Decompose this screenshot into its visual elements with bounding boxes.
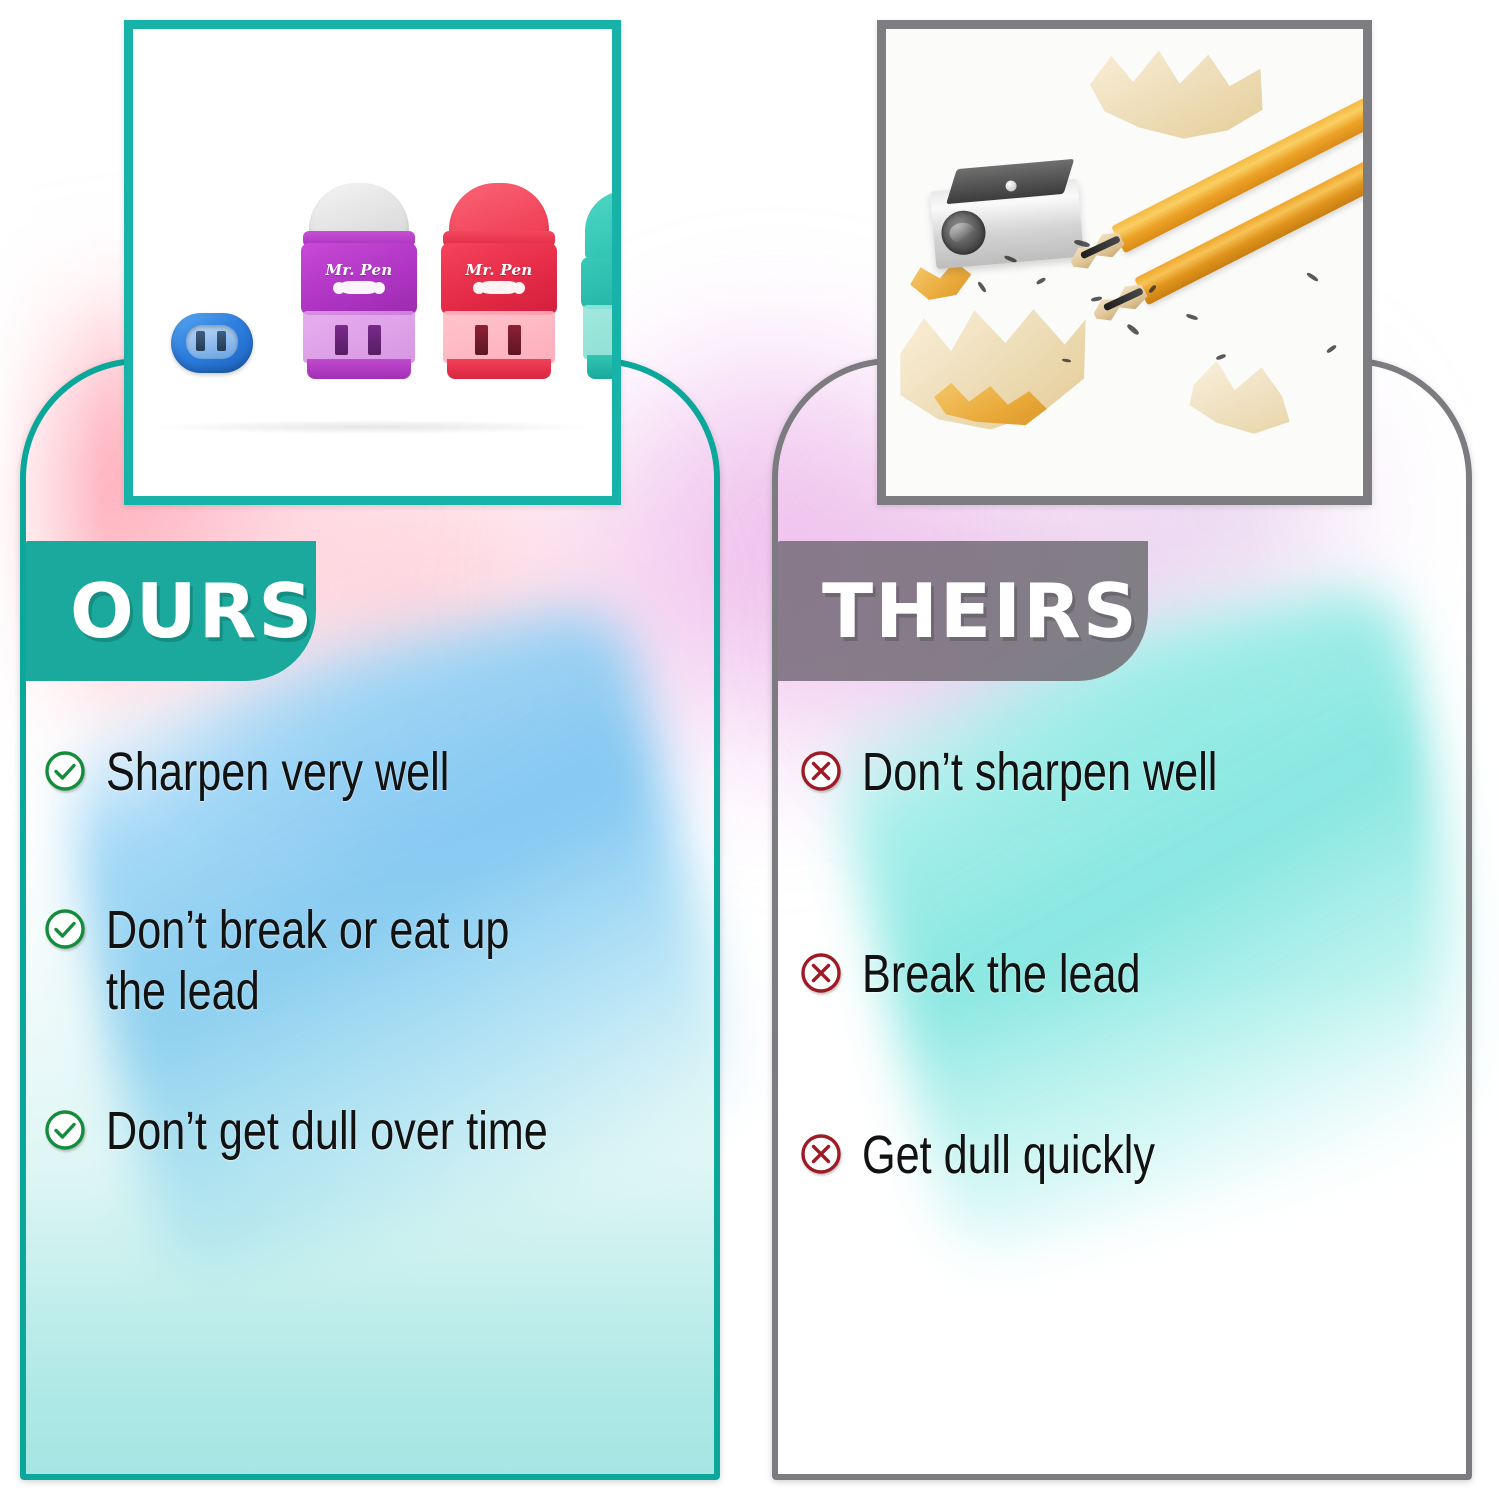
product-photo-ours-image: Mr. Pen Mr. Pen bbox=[133, 29, 612, 496]
x-circle-icon bbox=[800, 952, 842, 994]
graphite-fleck bbox=[1326, 344, 1337, 354]
banner-theirs-label: THEIRS bbox=[822, 574, 1139, 649]
x-circle-icon bbox=[800, 750, 842, 792]
check-circle-icon bbox=[44, 1109, 86, 1151]
graphite-fleck bbox=[1126, 323, 1140, 336]
banner-theirs: THEIRS bbox=[778, 541, 1148, 681]
graphite-fleck bbox=[1091, 296, 1103, 302]
wood-shaving-3 bbox=[1179, 349, 1300, 444]
pink-body bbox=[441, 243, 557, 315]
product-photo-ours: Mr. Pen Mr. Pen bbox=[124, 20, 621, 505]
product-photo-theirs bbox=[877, 20, 1372, 505]
blue-sharpener-blade-2 bbox=[217, 331, 226, 351]
list-item: Don’t break or eat up the lead bbox=[44, 900, 704, 1023]
list-item: Don’t sharpen well bbox=[800, 742, 1450, 804]
product-photo-theirs-image bbox=[886, 29, 1363, 496]
product-teal-combo-sharpener bbox=[581, 191, 612, 379]
list-item: Get dull quickly bbox=[800, 1125, 1450, 1187]
brand-logo-pink: Mr. Pen bbox=[441, 261, 557, 279]
graphite-fleck bbox=[1216, 353, 1227, 360]
list-item: Don’t get dull over time bbox=[44, 1101, 704, 1163]
graphite-fleck bbox=[1306, 272, 1319, 283]
feature-list-theirs: Don’t sharpen well Break the lead Get du… bbox=[800, 742, 1450, 1283]
check-circle-icon bbox=[44, 908, 86, 950]
purple-shavings-bin bbox=[303, 311, 415, 363]
list-item-label: Don’t break or eat up the lead bbox=[106, 900, 584, 1023]
wood-shaving-1 bbox=[1081, 35, 1269, 152]
list-item-label: Get dull quickly bbox=[862, 1125, 1332, 1187]
feature-list-ours: Sharpen very well Don’t break or eat up … bbox=[44, 742, 704, 1258]
banner-ours: OURS bbox=[26, 541, 316, 681]
mustache-icon bbox=[479, 281, 519, 294]
list-item: Sharpen very well bbox=[44, 742, 704, 804]
graphite-fleck bbox=[1186, 313, 1199, 321]
brand-logo-purple: Mr. Pen bbox=[301, 261, 417, 279]
list-item-label: Don’t sharpen well bbox=[862, 742, 1332, 804]
product-pink-combo-sharpener: Mr. Pen bbox=[441, 183, 557, 379]
list-item: Break the lead bbox=[800, 944, 1450, 1006]
blue-sharpener-blade-1 bbox=[196, 331, 205, 351]
list-item-label: Don’t get dull over time bbox=[106, 1101, 584, 1163]
blue-sharpener-well bbox=[186, 325, 238, 359]
product-purple-combo-sharpener: Mr. Pen bbox=[301, 183, 417, 379]
graphite-fleck bbox=[977, 281, 987, 293]
list-item-label: Break the lead bbox=[862, 944, 1332, 1006]
mustache-icon bbox=[339, 281, 379, 294]
teal-shavings-bin bbox=[583, 305, 612, 359]
pink-base-foot bbox=[447, 359, 551, 379]
purple-body bbox=[301, 243, 417, 315]
check-circle-icon bbox=[44, 750, 86, 792]
pink-sharpener-hole-1 bbox=[475, 325, 488, 355]
product-lineup: Mr. Pen Mr. Pen bbox=[133, 149, 612, 379]
banner-ours-label: OURS bbox=[70, 574, 314, 649]
x-circle-icon bbox=[800, 1133, 842, 1175]
pink-sharpener-hole-2 bbox=[508, 325, 521, 355]
list-item-label: Sharpen very well bbox=[106, 742, 584, 804]
teal-eraser-cap bbox=[585, 191, 612, 261]
teal-body bbox=[581, 257, 612, 309]
teal-base-foot bbox=[587, 355, 612, 379]
purple-sharpener-hole-1 bbox=[335, 325, 348, 355]
purple-sharpener-hole-2 bbox=[368, 325, 381, 355]
photo-shelf-shadow bbox=[153, 420, 592, 434]
graphite-fleck bbox=[1036, 277, 1047, 285]
pink-shavings-bin bbox=[443, 311, 555, 363]
purple-base-foot bbox=[307, 359, 411, 379]
product-blue-oval-sharpener bbox=[171, 313, 253, 373]
